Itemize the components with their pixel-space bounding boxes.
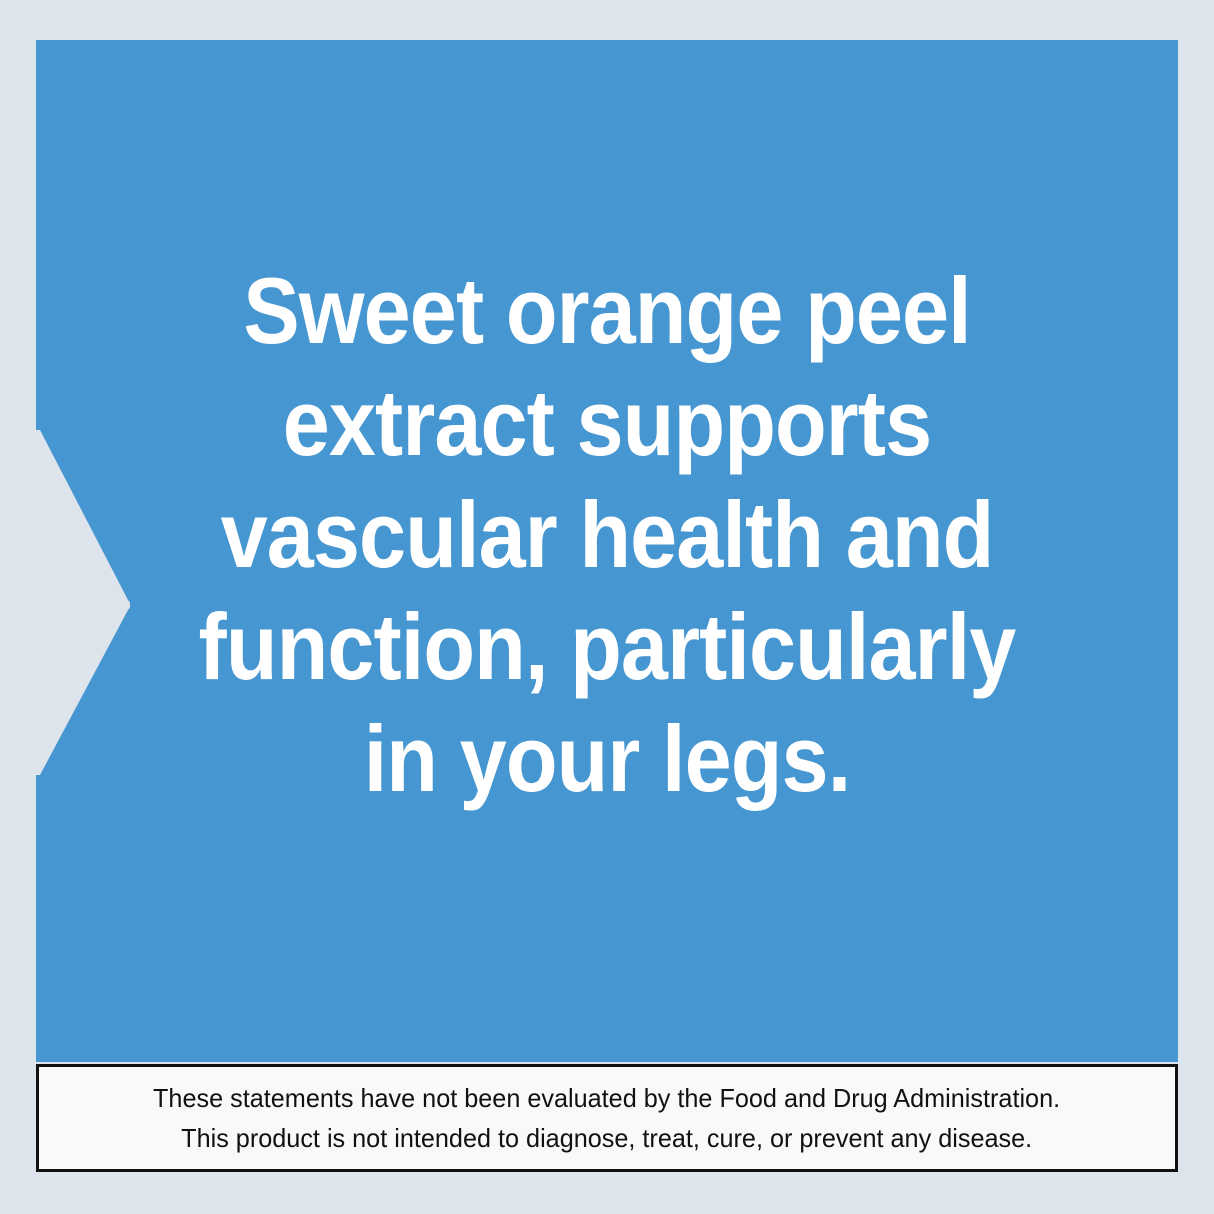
fda-disclaimer-box: These statements have not been evaluated…: [36, 1064, 1178, 1172]
disclaimer-line-2: This product is not intended to diagnose…: [182, 1118, 1033, 1158]
page-title: Sweet orange peel extract supports vascu…: [93, 255, 1121, 815]
product-claim-card: Sweet orange peel extract supports vascu…: [0, 0, 1214, 1214]
disclaimer-line-1: These statements have not been evaluated…: [153, 1078, 1060, 1118]
